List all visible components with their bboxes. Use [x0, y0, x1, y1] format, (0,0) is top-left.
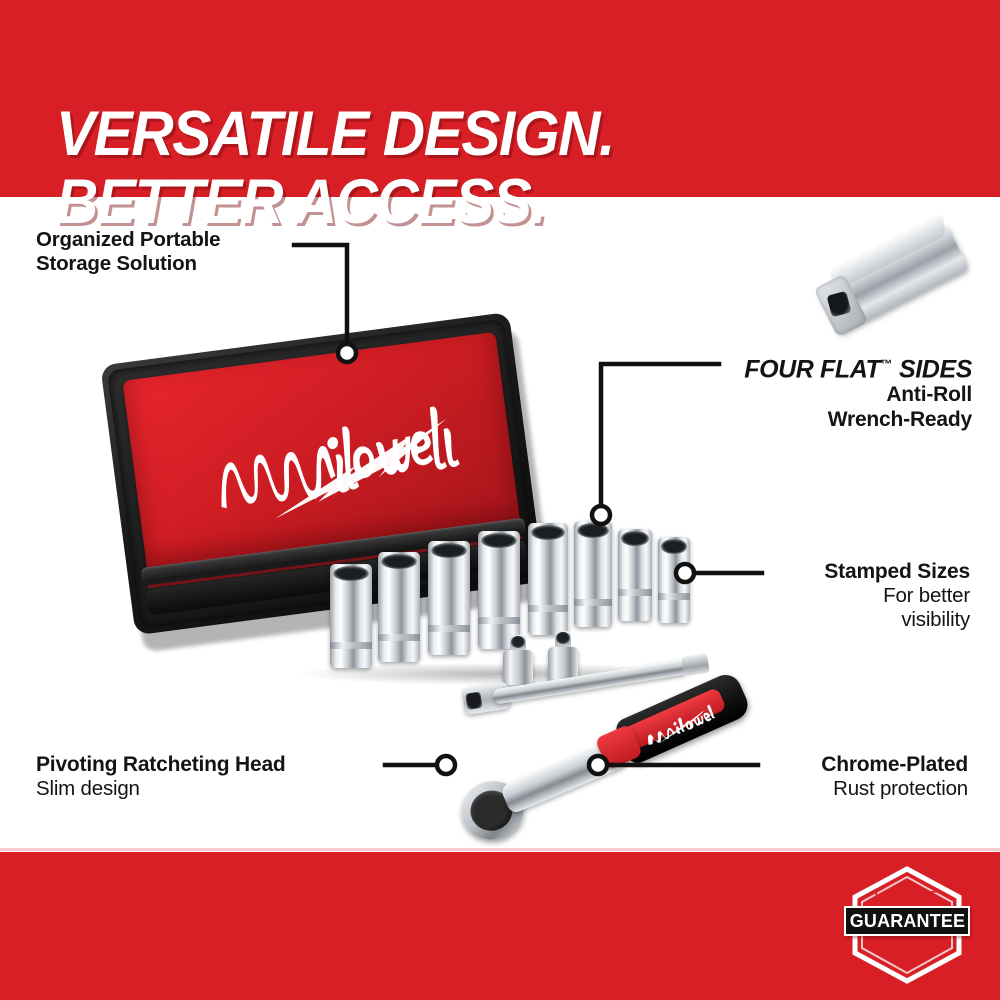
socket-mouth-icon: [431, 543, 466, 558]
socket-opening-icon: [827, 291, 852, 317]
callout-subtitle-line-1: Slim design: [36, 777, 286, 801]
socket-mouth-icon: [577, 523, 609, 538]
callout-stamped-sizes: Stamped Sizes For better visibility: [824, 560, 970, 632]
socket-mouth-icon: [333, 566, 368, 581]
callout-title: Pivoting Ratcheting Head: [36, 753, 286, 777]
socket-mouth-icon: [661, 539, 688, 554]
badge-guarantee-bar: GUARANTEE: [844, 906, 970, 936]
socket-barrel: [478, 531, 520, 649]
four-flat-headline-post: SIDES: [892, 355, 972, 383]
headline-line-1: VERSATILE DESIGN.: [56, 99, 614, 169]
socket-band: [528, 605, 568, 612]
callout-title-line-2: Storage Solution: [36, 252, 220, 276]
socket-6: [574, 521, 612, 627]
socket-1: [330, 564, 372, 668]
adapter-socket-opening-icon: [556, 632, 570, 644]
four-flat-headline-pre: FOUR FLAT: [744, 355, 880, 383]
lifetime-guarantee-badge: LIFETIME GUARANTEE: [846, 866, 968, 984]
milwaukee-logo-icon: [200, 390, 464, 534]
socket-band: [478, 617, 520, 624]
socket-band: [330, 642, 372, 649]
socket-4: [478, 531, 520, 649]
trademark-symbol: ™: [880, 357, 892, 371]
lightning-bolt-icon: [653, 705, 715, 743]
callout-subtitle-line-2: visibility: [824, 608, 970, 632]
callout-four-flat-sides: FOUR FLAT™ SIDES Anti-Roll Wrench-Ready: [744, 350, 972, 432]
callout-subtitle-line-1: Anti-Roll: [744, 383, 972, 408]
milwaukee-logo-icon: [642, 704, 717, 750]
socket-band: [428, 625, 470, 632]
callout-pivoting-ratcheting-head: Pivoting Ratcheting Head Slim design: [36, 753, 286, 801]
socket-mouth-icon: [481, 533, 516, 548]
socket-3: [428, 541, 470, 655]
socket-mouth-icon: [381, 554, 416, 569]
infographic-canvas: VERSATILE DESIGN. BETTER ACCESS.: [0, 0, 1000, 1000]
socket-7: [618, 529, 652, 621]
socket-2: [378, 552, 420, 662]
callout-subtitle-line-1: Rust protection: [821, 777, 968, 801]
badge-lifetime-text: LIFETIME: [849, 888, 965, 903]
adapter-socket-opening-icon: [511, 636, 525, 648]
socket-band: [618, 589, 652, 596]
socket-barrel: [428, 541, 470, 655]
callout-subtitle-line-1: For better: [824, 584, 970, 608]
socket-mouth-icon: [531, 525, 565, 540]
socket-band: [658, 593, 690, 600]
callout-title-line-1: Organized Portable: [36, 228, 220, 252]
callout-title: Stamped Sizes: [824, 560, 970, 584]
callout-subtitle-line-2: Wrench-Ready: [744, 408, 972, 433]
callout-four-flat-headline: FOUR FLAT™ SIDES: [744, 350, 972, 383]
callout-organized-portable-storage: Organized Portable Storage Solution: [36, 228, 220, 275]
extension-drive-hole-icon: [465, 692, 482, 710]
callout-title: Chrome-Plated: [821, 753, 968, 777]
badge-guarantee-text: GUARANTEE: [849, 910, 964, 932]
socket-8: [658, 537, 690, 623]
socket-5: [528, 523, 568, 635]
four-flat-socket: [806, 204, 980, 356]
extension-drive-tip: [681, 653, 710, 677]
ratchet-handle-grip: [622, 687, 727, 751]
socket-band: [574, 599, 612, 606]
socket-band: [378, 634, 420, 641]
callout-chrome-plated: Chrome-Plated Rust protection: [821, 753, 968, 801]
lightning-bolt-icon: [262, 419, 459, 519]
socket-mouth-icon: [621, 531, 650, 546]
